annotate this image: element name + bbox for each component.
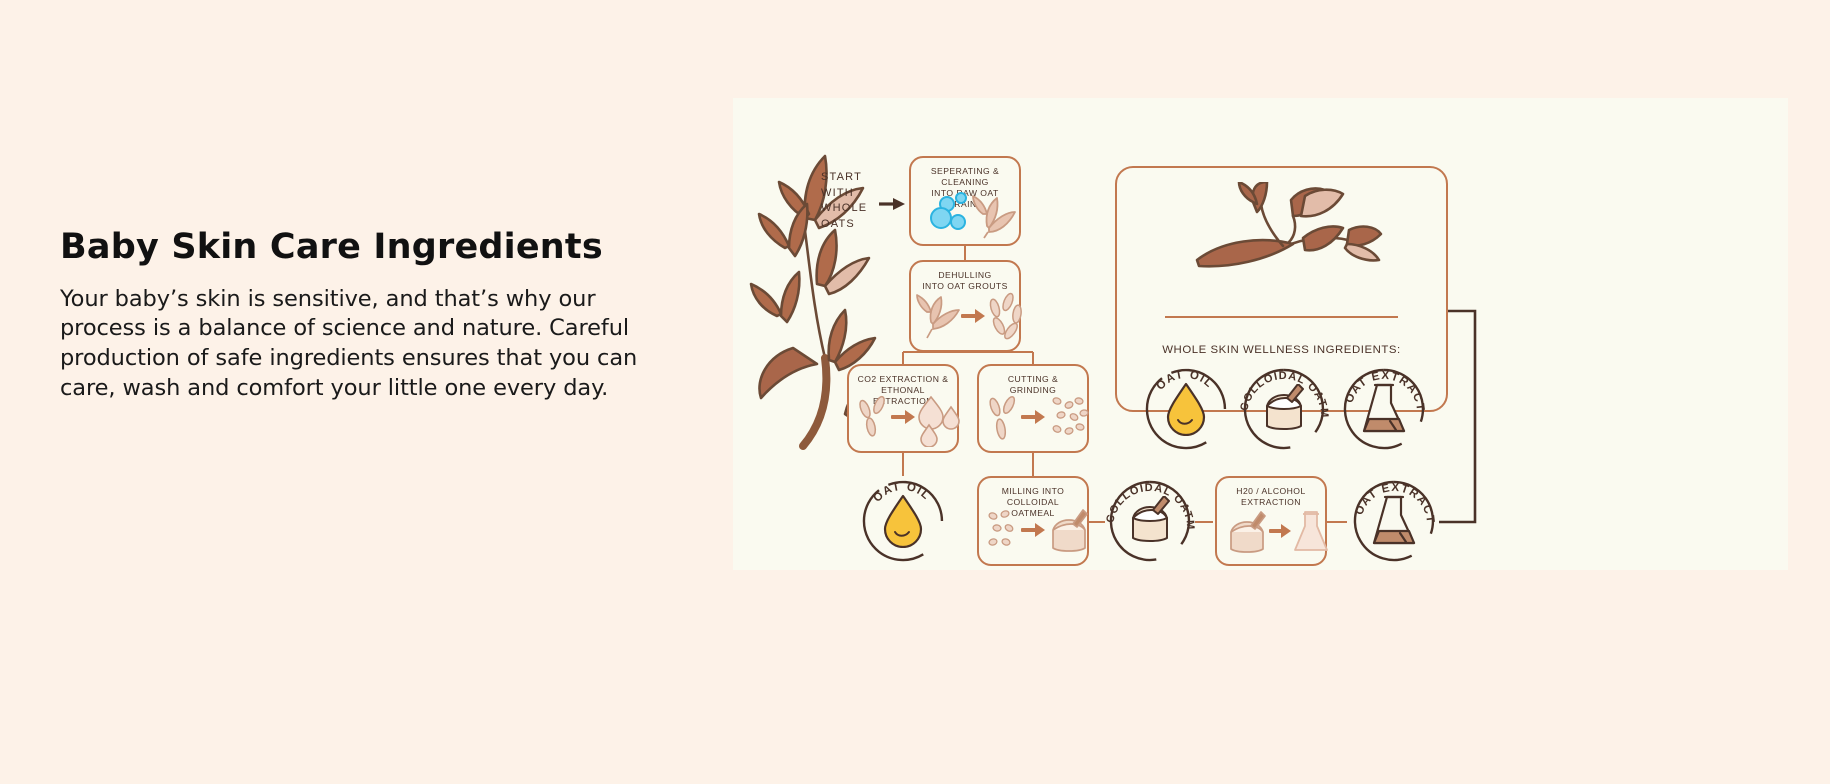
step-dehulling[interactable]: DEHULLING INTO OAT GROUTS: [909, 260, 1021, 352]
arrow: [1021, 523, 1045, 537]
flask-icon: [1295, 512, 1327, 550]
bubbles-and-grain-icon: [911, 182, 1023, 240]
whole-skin-wellness-panel: WHOLE SKIN WELLNESS INGREDIENTS: OAT OIL: [1115, 166, 1448, 412]
process-diagram: START WITH WHOLE OATS SEPERATING & CLEAN…: [733, 98, 1788, 570]
dehulling-icon: [911, 288, 1023, 346]
flask-icon: [1370, 493, 1418, 549]
sack-with-scoop: [1053, 510, 1087, 551]
ingredient-badge-oat-extract[interactable]: OAT EXTRACT: [1339, 364, 1429, 454]
step-h2o-alcohol-extraction[interactable]: H20 / ALCOHOL EXTRACTION: [1215, 476, 1327, 566]
panel-title: WHOLE SKIN WELLNESS INGREDIENTS:: [1117, 344, 1446, 356]
step-co2-extraction[interactable]: CO2 EXTRACTION & ETHONAL EXTRACTION: [847, 364, 959, 453]
step-milling-colloidal-oatmeal[interactable]: MILLING INTO COLLOIDAL OATMEAL: [977, 476, 1089, 566]
oatmeal-sack-icon: [1125, 496, 1175, 546]
oat-flakes: [988, 510, 1014, 546]
arrow: [1021, 410, 1045, 424]
page-body-text: Your baby’s skin is sensitive, and that’…: [60, 285, 660, 404]
co2-extraction-icon: [849, 389, 961, 447]
oat-branch-illustration: [1187, 182, 1383, 292]
oat-flakes: [1052, 397, 1088, 435]
step-separating-cleaning[interactable]: SEPERATING & CLEANING INTO RAW OAT GRAIN…: [909, 156, 1021, 246]
page-title: Baby Skin Care Ingredients: [60, 228, 660, 267]
badge-oat-oil-flow[interactable]: OAT OIL: [858, 476, 948, 566]
milling-icon: [979, 502, 1091, 560]
flask-icon: [1360, 381, 1408, 437]
ingredient-badge-oat-oil[interactable]: OAT OIL: [1141, 364, 1231, 454]
oil-droplet-icon: [1165, 382, 1207, 436]
arrow: [891, 410, 915, 424]
sack-with-scoop: [1231, 512, 1265, 552]
arrow: [961, 309, 985, 323]
copy-block: Baby Skin Care Ingredients Your baby’s s…: [60, 228, 660, 403]
page-root: Baby Skin Care Ingredients Your baby’s s…: [0, 0, 1830, 784]
start-arrow: [879, 198, 905, 210]
badge-colloidal-oatmeal-flow[interactable]: COLLOIDAL OATMEAL: [1105, 476, 1195, 566]
start-with-whole-oats-label: START WITH WHOLE OATS: [821, 170, 867, 232]
ingredient-badge-colloidal-oatmeal[interactable]: COLLOIDAL OATMEAL: [1239, 364, 1329, 454]
arrow: [1269, 524, 1291, 538]
step-cutting-grinding[interactable]: CUTTING & GRINDING: [977, 364, 1089, 453]
oil-droplet-icon: [882, 494, 924, 548]
cutting-grinding-icon: [979, 389, 1091, 447]
badge-oat-extract-flow[interactable]: OAT EXTRACT: [1349, 476, 1439, 566]
panel-divider: [1165, 316, 1398, 318]
droplets: [919, 397, 959, 447]
oatmeal-sack-icon: [1259, 384, 1309, 434]
h2o-extraction-icon: [1217, 502, 1329, 560]
